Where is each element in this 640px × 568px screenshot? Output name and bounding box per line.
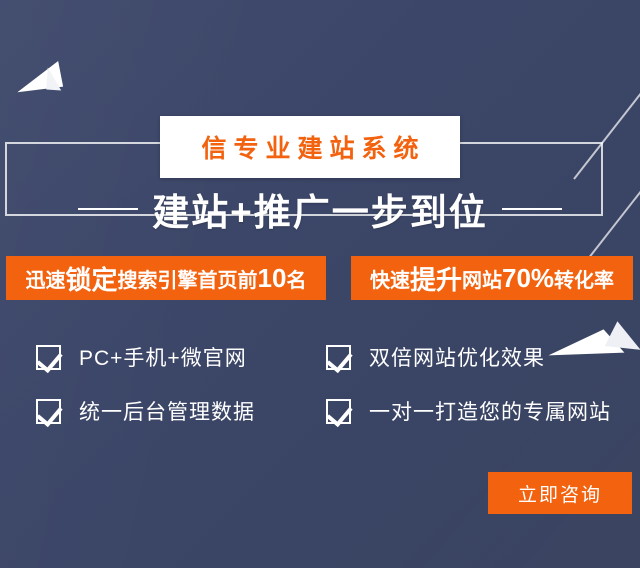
badge-conversion-rate: 快速提升网站70%转化率: [351, 256, 633, 300]
feature-label: 一对一打造您的专属网站: [369, 396, 611, 426]
title-plaque: 信专业建站系统: [160, 116, 460, 178]
page-title: 建站+推广一步到位: [152, 182, 488, 236]
feature-item: PC+手机+微官网: [36, 342, 326, 372]
feature-item: 统一后台管理数据: [36, 396, 326, 426]
paper-plane-wing: [46, 68, 62, 91]
feature-label: PC+手机+微官网: [79, 342, 247, 372]
badge-part: 提升: [410, 260, 462, 297]
badge-part: 迅速: [26, 264, 66, 293]
feature-list: PC+手机+微官网 双倍网站优化效果 统一后台管理数据 一对一打造您的专属网站: [36, 330, 632, 438]
badge-part: 转化率: [554, 264, 614, 293]
feature-label: 双倍网站优化效果: [369, 342, 545, 372]
feature-row: 统一后台管理数据 一对一打造您的专属网站: [36, 384, 632, 438]
badge-part: 名: [286, 264, 306, 293]
badge-part: 10: [258, 263, 287, 294]
checkbox-checked-icon: [36, 399, 61, 424]
badge-part: 快速: [370, 264, 410, 293]
checkbox-checked-icon: [326, 345, 351, 370]
feature-row: PC+手机+微官网 双倍网站优化效果: [36, 330, 632, 384]
paper-plane-icon: [16, 64, 80, 116]
badge-search-ranking: 迅速锁定搜索引擎首页前10名: [6, 256, 326, 300]
headline-rule-left: [78, 208, 138, 210]
promo-banner: 信专业建站系统 建站+推广一步到位 迅速锁定搜索引擎首页前10名 快速提升网站7…: [0, 0, 640, 568]
feature-item: 一对一打造您的专属网站: [326, 396, 632, 426]
feature-item: 双倍网站优化效果: [326, 342, 632, 372]
feature-label: 统一后台管理数据: [79, 396, 255, 426]
badge-part: 网站: [462, 264, 502, 293]
checkbox-checked-icon: [36, 345, 61, 370]
headline-rule-right: [502, 208, 562, 210]
badge-part: 搜索引擎首页前: [118, 264, 258, 293]
plaque-title: 信专业建站系统: [194, 129, 425, 165]
badge-row: 迅速锁定搜索引擎首页前10名 快速提升网站70%转化率: [0, 256, 640, 300]
badge-part: 70%: [502, 263, 554, 294]
consult-now-button[interactable]: 立即咨询: [488, 472, 632, 514]
checkbox-checked-icon: [326, 399, 351, 424]
headline-row: 建站+推广一步到位: [0, 178, 640, 240]
badge-part: 锁定: [66, 260, 118, 297]
